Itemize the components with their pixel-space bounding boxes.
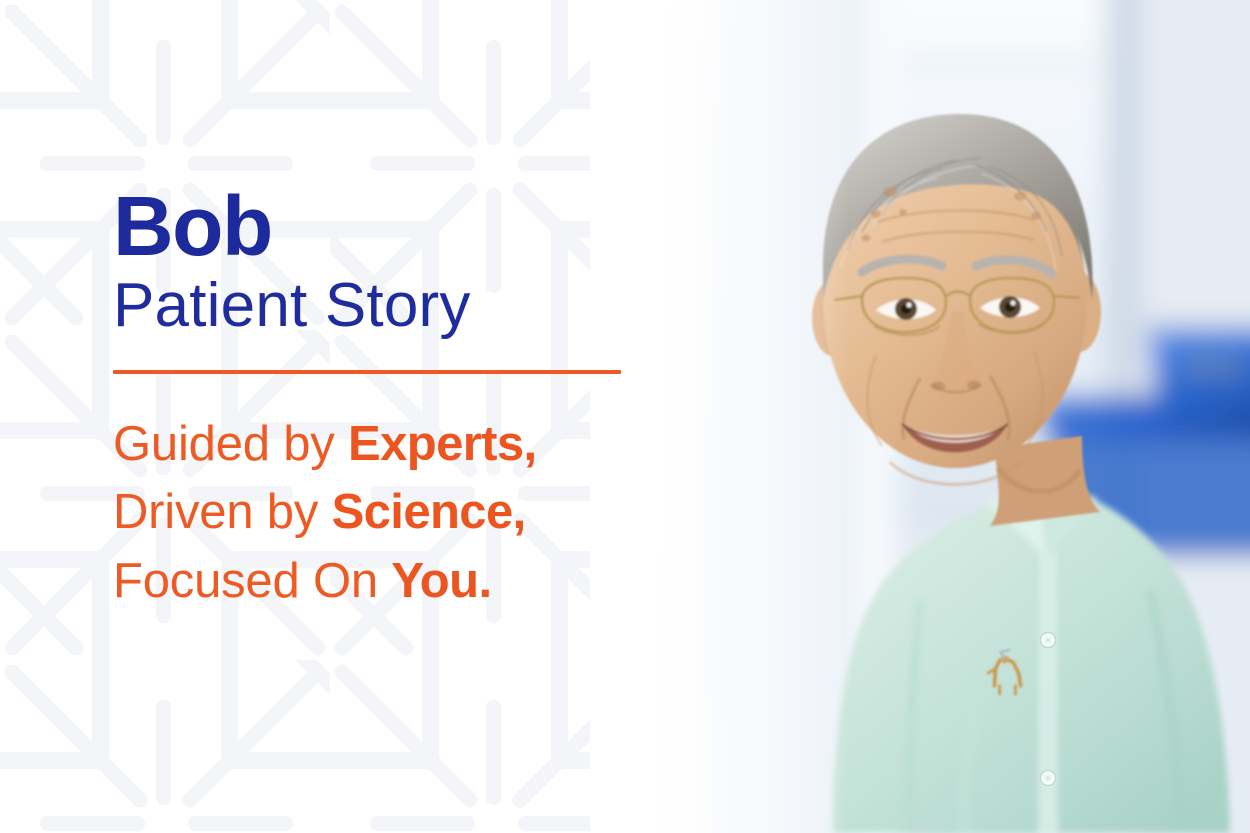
tagline-line-2: Driven by Science, (113, 478, 673, 546)
tagline-line-2-bold: Science, (332, 485, 526, 539)
page-title: Bob (113, 186, 673, 267)
page-subtitle: Patient Story (113, 273, 673, 339)
tagline: Guided by Experts, Driven by Science, Fo… (113, 410, 673, 614)
patient-photo (590, 0, 1250, 833)
tagline-line-3: Focused On You. (113, 547, 673, 615)
tagline-line-2-light: Driven by (113, 485, 332, 539)
patient-story-banner: Bob Patient Story Guided by Experts, Dri… (0, 0, 1250, 833)
orange-divider (113, 370, 621, 374)
tagline-line-1: Guided by Experts, (113, 410, 673, 478)
tagline-line-3-bold: You. (391, 554, 491, 608)
tagline-line-1-bold: Experts, (348, 417, 537, 471)
tagline-line-1-light: Guided by (113, 417, 348, 471)
tagline-line-3-light: Focused On (113, 554, 391, 608)
headline-block: Bob Patient Story Guided by Experts, Dri… (113, 186, 673, 615)
